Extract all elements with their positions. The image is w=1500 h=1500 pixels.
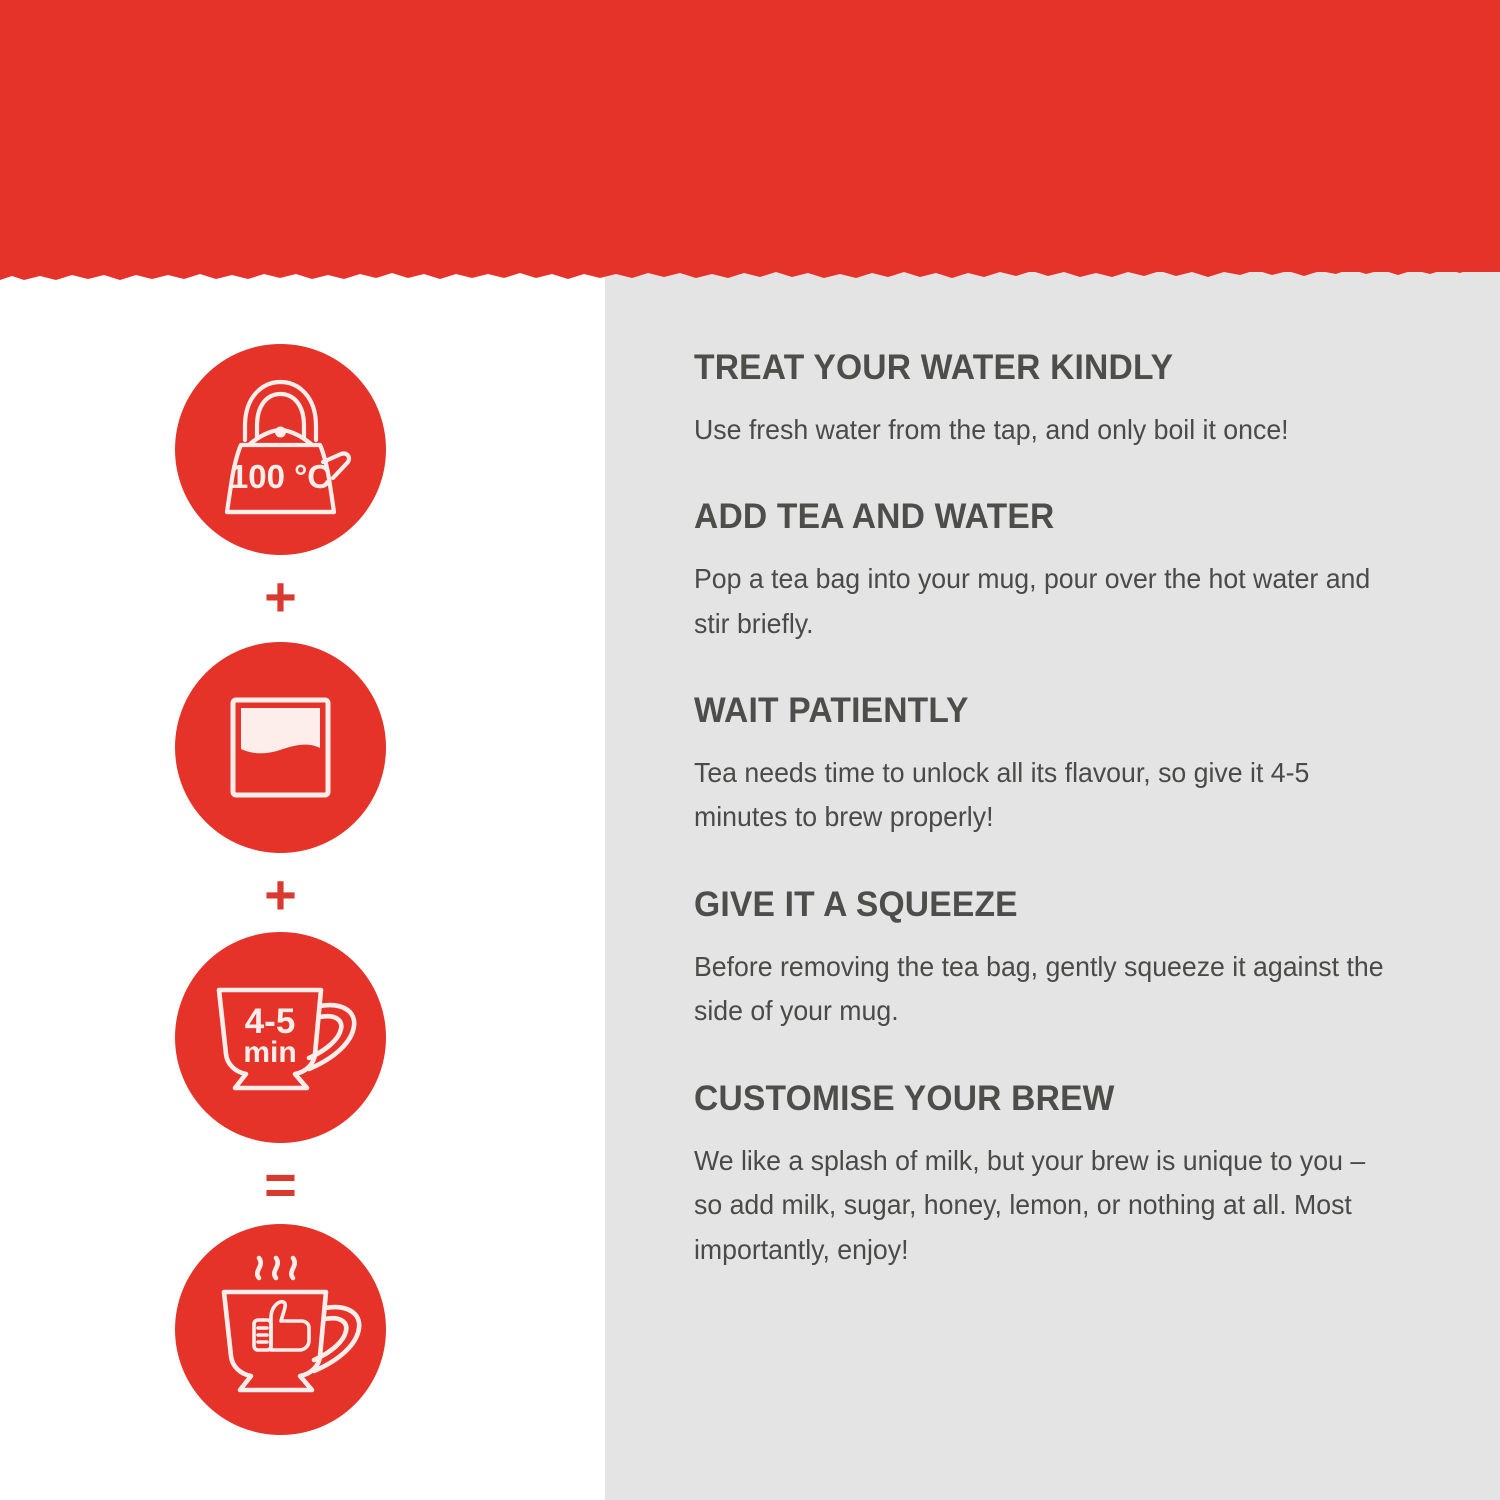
plus-symbol: + [175,867,386,923]
step-title: TREAT YOUR WATER KINDLY [694,350,1391,387]
icon-circle-kettle: 100 °C [175,344,386,555]
steaming-mug-thumbs-up-icon [175,1224,386,1435]
step-item: ADD TEA AND WATER Pop a tea bag into you… [694,499,1420,646]
step-body: Before removing the tea bag, gently sque… [694,945,1398,1034]
icon-column: 100 °C + + 4-5 min [0,272,605,1500]
step-body: Pop a tea bag into your mug, pour over t… [694,557,1398,646]
step-item: TREAT YOUR WATER KINDLY Use fresh water … [694,350,1420,452]
tea-bag-icon [175,642,386,853]
equals-symbol: = [175,1157,386,1213]
plus-symbol: + [175,569,386,625]
step-item: GIVE IT A SQUEEZE Before removing the te… [694,887,1420,1034]
teacup-timer-icon: 4-5 min [175,932,386,1143]
step-title: CUSTOMISE YOUR BREW [694,1081,1391,1118]
torn-paper-edge [0,255,1500,289]
icon-circle-enjoy [175,1224,386,1435]
brew-time-label-line2: min [243,1036,296,1069]
step-item: CUSTOMISE YOUR BREW We like a splash of … [694,1081,1420,1272]
infographic-page: HOW TO MAKE A PROPER BREW [0,0,1500,1500]
icon-circle-tea-bag [175,642,386,853]
step-title: GIVE IT A SQUEEZE [694,887,1391,924]
step-item: WAIT PATIENTLY Tea needs time to unlock … [694,693,1420,840]
step-body: Use fresh water from the tap, and only b… [694,408,1398,453]
kettle-icon: 100 °C [175,344,386,555]
step-body: We like a splash of milk, but your brew … [694,1139,1398,1273]
steps-list: TREAT YOUR WATER KINDLY Use fresh water … [694,350,1420,1272]
step-body: Tea needs time to unlock all its flavour… [694,751,1398,840]
header-band [0,0,1500,272]
step-title: ADD TEA AND WATER [694,499,1391,536]
kettle-temperature-label: 100 °C [230,458,331,495]
step-title: WAIT PATIENTLY [694,693,1391,730]
icon-circle-brew-timer: 4-5 min [175,932,386,1143]
